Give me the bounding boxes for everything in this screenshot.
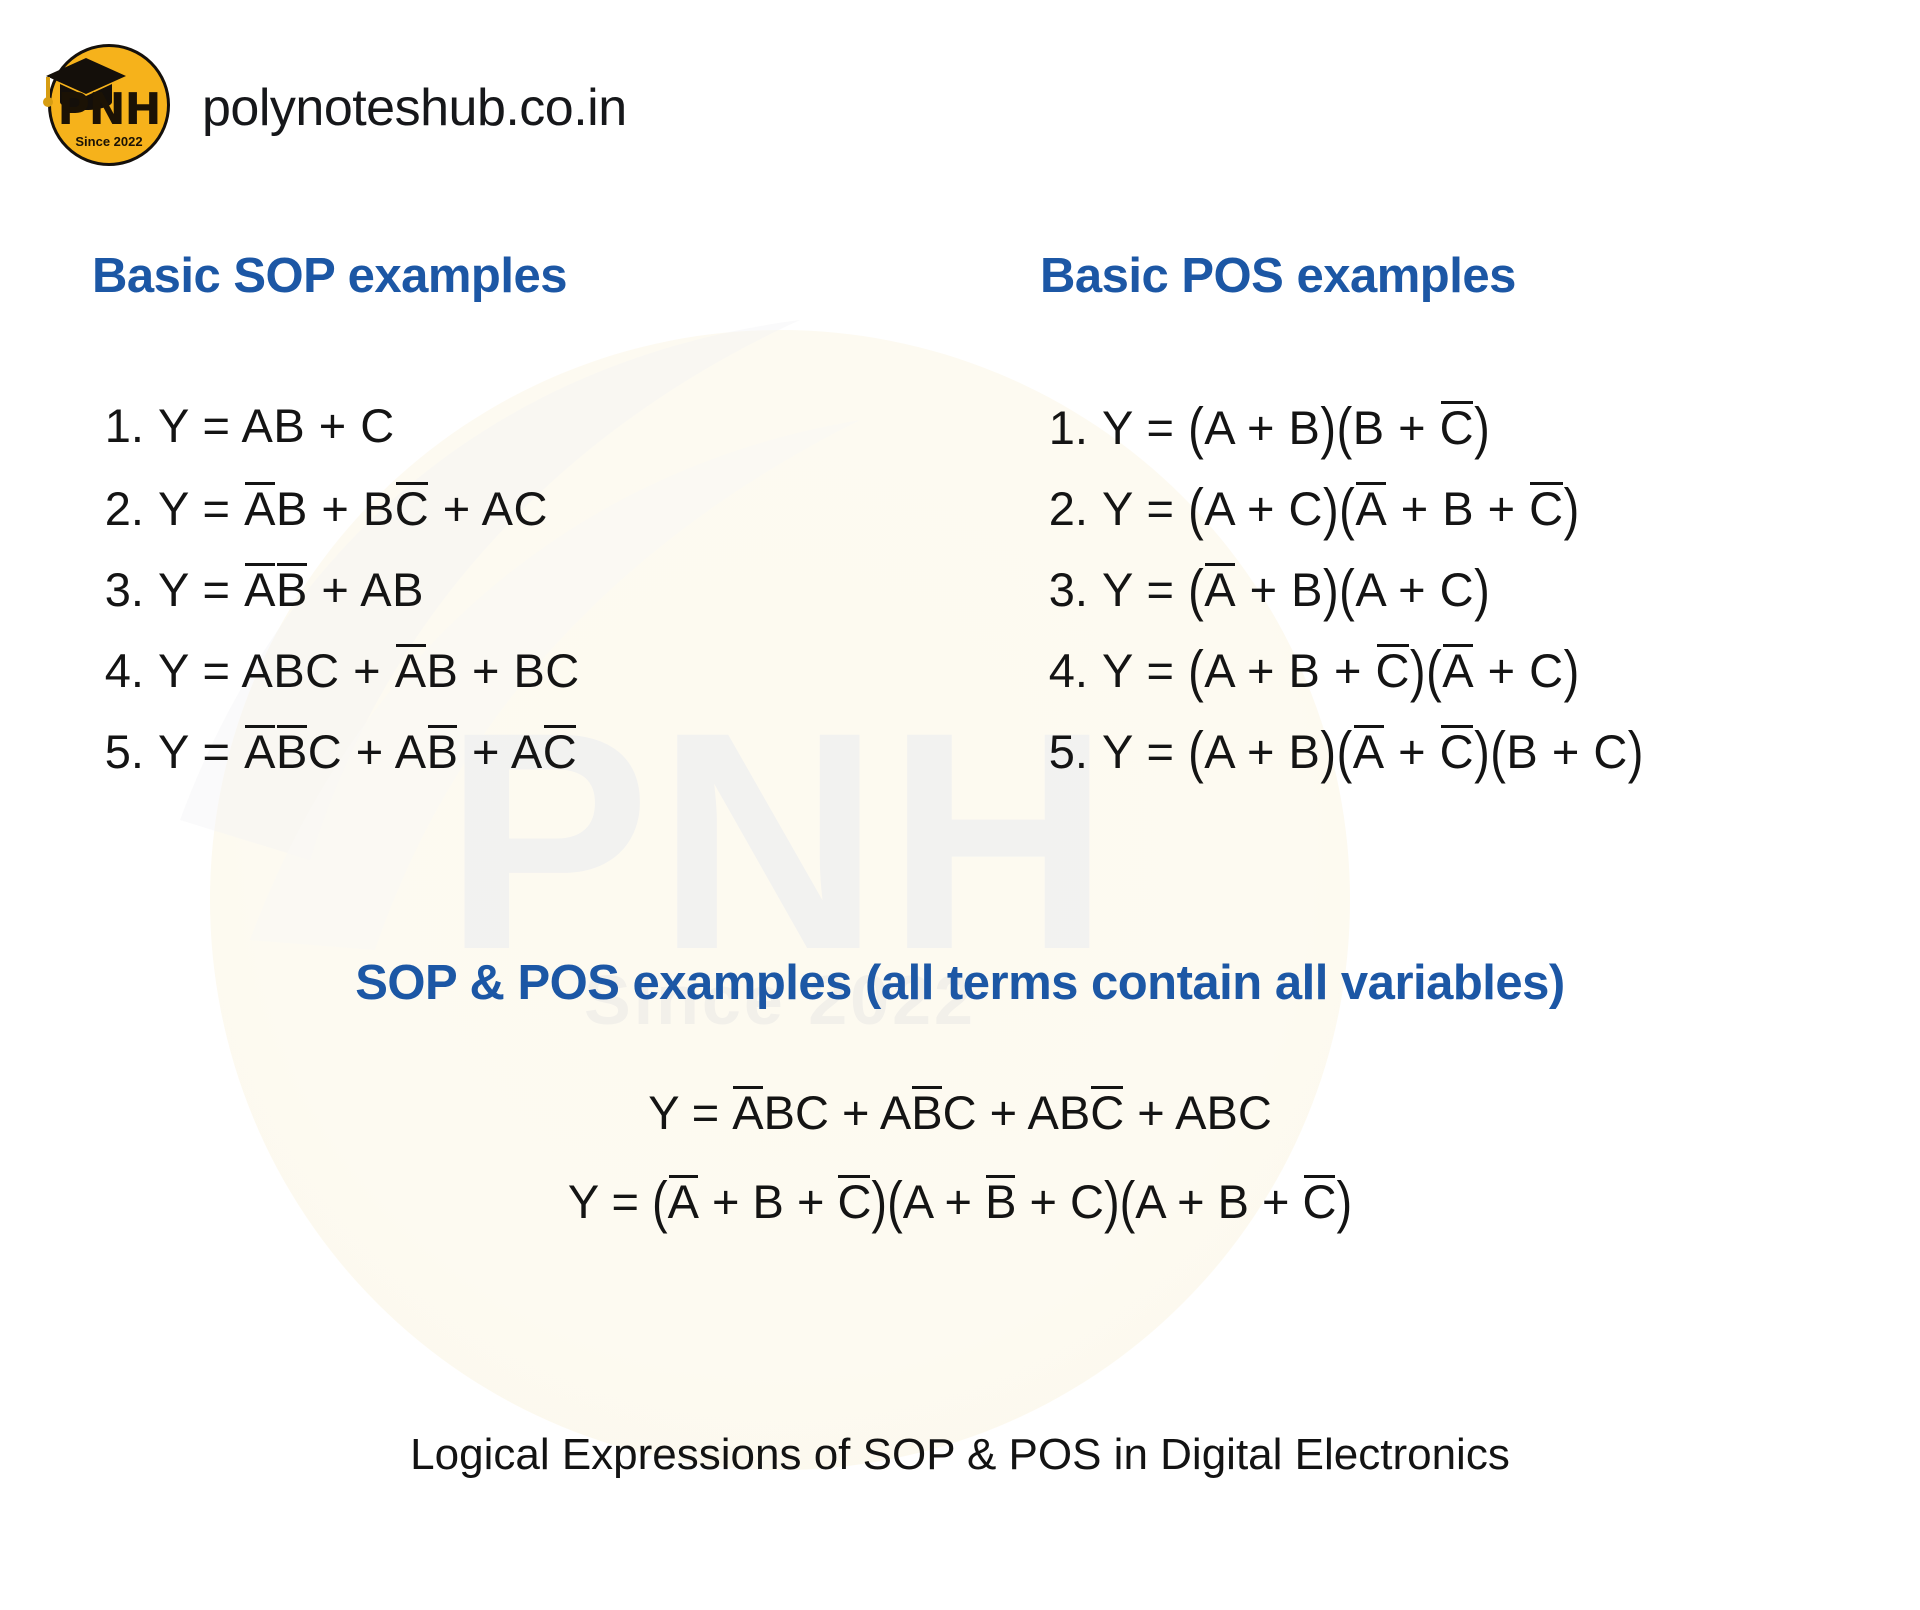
list-item-number: 1. bbox=[96, 398, 158, 453]
list-item: 5. Y = ABC + AB + AC bbox=[96, 722, 580, 803]
pos-expression-3: Y = (A + B)(A + C) bbox=[1102, 560, 1490, 617]
sop-expression-3: Y = AB + AB bbox=[158, 560, 424, 617]
list-item: 2. Y = AB + BC + AC bbox=[96, 479, 580, 560]
list-item-number: 5. bbox=[1040, 724, 1102, 779]
list-item-number: 1. bbox=[1040, 400, 1102, 455]
list-item-number: 2. bbox=[96, 481, 158, 536]
list-item: 1. Y = (A + B)(B + C) bbox=[1040, 398, 1644, 479]
list-item: 4. Y = (A + B + C)(A + C) bbox=[1040, 641, 1644, 722]
pos-section-heading: Basic POS examples bbox=[1040, 248, 1516, 304]
list-item-number: 3. bbox=[1040, 562, 1102, 617]
sop-expression-list: 1. Y = AB + C 2. Y = AB + BC + AC 3. Y =… bbox=[96, 398, 580, 803]
list-item-number: 3. bbox=[96, 562, 158, 617]
list-item: 3. Y = (A + B)(A + C) bbox=[1040, 560, 1644, 641]
sop-section-heading: Basic SOP examples bbox=[92, 248, 567, 304]
pos-expression-4: Y = (A + B + C)(A + C) bbox=[1102, 641, 1580, 698]
logo-monogram: PNH bbox=[48, 84, 170, 135]
site-logo[interactable]: PNH Since 2022 bbox=[48, 44, 176, 172]
sop-expression-2: Y = AB + BC + AC bbox=[158, 479, 548, 536]
pos-expression-1: Y = (A + B)(B + C) bbox=[1102, 398, 1490, 455]
list-item: 1. Y = AB + C bbox=[96, 398, 580, 479]
combined-pos-expression: Y = (A + B + C)(A + B + C)(A + B + C) bbox=[0, 1172, 1920, 1229]
list-item-number: 5. bbox=[96, 724, 158, 779]
list-item: 3. Y = AB + AB bbox=[96, 560, 580, 641]
pos-expression-2: Y = (A + C)(A + B + C) bbox=[1102, 479, 1580, 536]
figure-caption: Logical Expressions of SOP & POS in Digi… bbox=[0, 1430, 1920, 1480]
list-item-number: 2. bbox=[1040, 481, 1102, 536]
sop-expression-4: Y = ABC + AB + BC bbox=[158, 641, 580, 698]
combined-section-heading: SOP & POS examples (all terms contain al… bbox=[0, 955, 1920, 1011]
combined-sop-expression: Y = ABC + ABC + ABC + ABC bbox=[0, 1083, 1920, 1140]
poster-canvas: PNH Since 2022 polynoteshub.co.in Basic … bbox=[0, 0, 1920, 1610]
pos-expression-5: Y = (A + B)(A + C)(B + C) bbox=[1102, 722, 1644, 779]
list-item: 4. Y = ABC + AB + BC bbox=[96, 641, 580, 722]
list-item-number: 4. bbox=[1040, 643, 1102, 698]
site-brand[interactable]: PNH Since 2022 polynoteshub.co.in bbox=[48, 44, 627, 172]
logo-tagline: Since 2022 bbox=[48, 134, 170, 149]
sop-expression-1: Y = AB + C bbox=[158, 398, 395, 453]
sop-expression-5: Y = ABC + AB + AC bbox=[158, 722, 577, 779]
list-item: 5. Y = (A + B)(A + C)(B + C) bbox=[1040, 722, 1644, 803]
list-item-number: 4. bbox=[96, 643, 158, 698]
site-name[interactable]: polynoteshub.co.in bbox=[202, 78, 627, 138]
list-item: 2. Y = (A + C)(A + B + C) bbox=[1040, 479, 1644, 560]
pos-expression-list: 1. Y = (A + B)(B + C) 2. Y = (A + C)(A +… bbox=[1040, 398, 1644, 803]
